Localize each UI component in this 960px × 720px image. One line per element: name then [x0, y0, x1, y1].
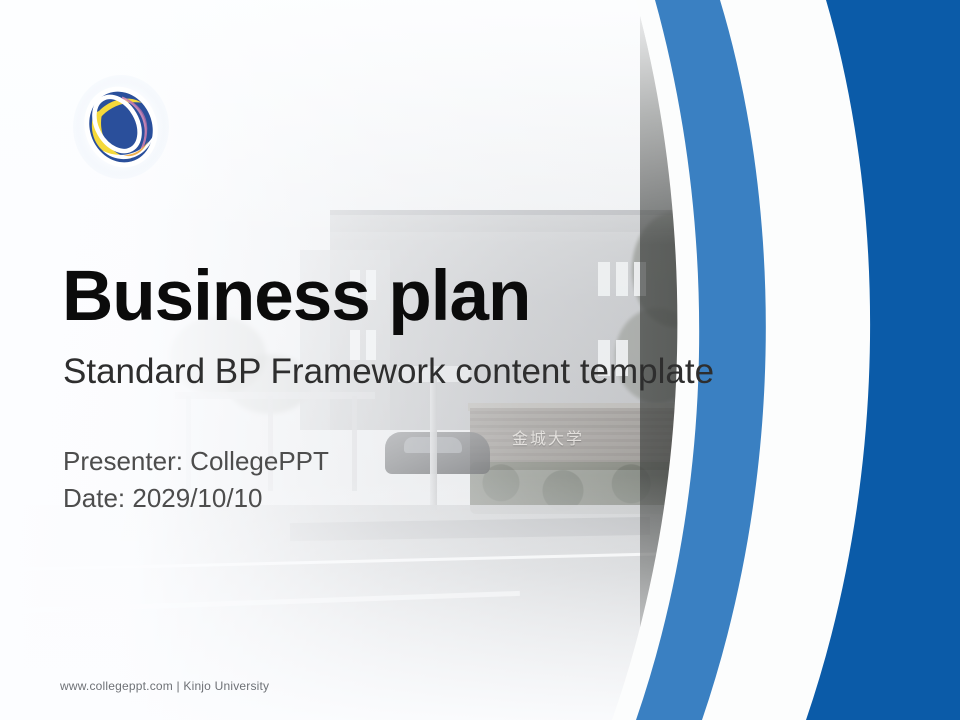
presenter-line: Presenter: CollegePPT	[63, 443, 329, 480]
slide-meta-block: Presenter: CollegePPT Date: 2029/10/10	[63, 443, 329, 517]
slide-subtitle: Standard BP Framework content template	[63, 353, 714, 392]
slide-footer: www.collegeppt.com | Kinjo University	[60, 679, 269, 693]
kinjo-university-logo-icon	[71, 74, 171, 180]
slide-title: Business plan	[62, 261, 530, 332]
date-line: Date: 2029/10/10	[63, 480, 329, 517]
presentation-slide: 金城大学	[0, 0, 960, 720]
